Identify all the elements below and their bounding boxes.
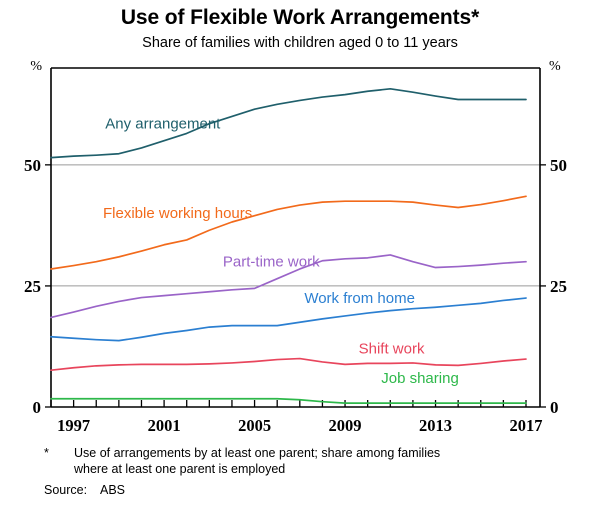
y-unit-left: % (30, 59, 42, 74)
footnote-row: * Use of arrangements by at least one pa… (0, 446, 600, 477)
chart-plot-area: 0025255050 199720012005200920132017 %% A… (0, 0, 600, 446)
series-line (51, 298, 526, 341)
footnote-line-1: Use of arrangements by at least one pare… (74, 446, 440, 460)
series-line (51, 359, 526, 371)
footnote-line-2: where at least one parent is employed (74, 462, 285, 476)
series-label: Job sharing (381, 370, 459, 387)
y-tick-label-right: 50 (550, 156, 567, 175)
series-label: Work from home (304, 290, 415, 307)
source-value: ABS (100, 483, 600, 499)
series-label: Part-time work (223, 254, 320, 271)
footnotes: * Use of arrangements by at least one pa… (0, 446, 600, 499)
series-label: Any arrangement (105, 116, 221, 133)
x-tick-label: 1997 (57, 416, 90, 435)
y-axis-tick-labels: 0025255050 (24, 156, 567, 417)
x-tick-label: 2001 (148, 416, 181, 435)
source-row: Source: ABS (0, 483, 600, 499)
y-tick-label-right: 25 (550, 277, 567, 296)
x-tick-label: 2017 (510, 416, 543, 435)
x-tick-label: 2013 (419, 416, 452, 435)
x-tick-label: 2005 (238, 416, 271, 435)
y-unit-right: % (549, 59, 561, 74)
x-tick-label: 2009 (329, 416, 362, 435)
series-label: Flexible working hours (103, 205, 252, 222)
axis-unit-labels: %% (30, 59, 561, 74)
x-axis-tick-labels: 199720012005200920132017 (57, 416, 542, 435)
y-tick-label-left: 0 (33, 398, 42, 417)
footnote-text: Use of arrangements by at least one pare… (74, 446, 600, 477)
footnote-marker: * (0, 446, 74, 462)
y-tick-label-left: 50 (24, 156, 41, 175)
chart-figure: Use of Flexible Work Arrangements* Share… (0, 0, 600, 505)
series-inline-labels: Any arrangementFlexible working hoursPar… (103, 116, 459, 387)
series-line (51, 399, 526, 403)
series-label: Shift work (359, 341, 425, 358)
y-tick-label-right: 0 (550, 398, 559, 417)
y-tick-label-left: 25 (24, 277, 41, 296)
data-series-lines (51, 89, 526, 403)
source-label: Source: (44, 483, 100, 499)
